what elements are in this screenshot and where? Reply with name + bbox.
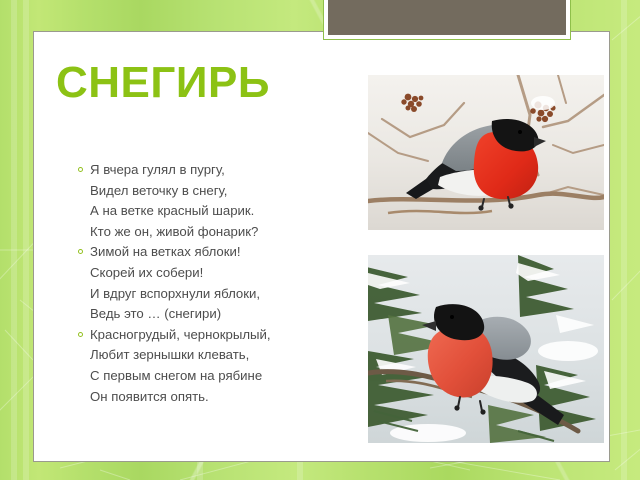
list-item: Видел веточку в снегу, [78, 181, 368, 202]
poem-line-text: Кто же он, живой фонарик? [90, 224, 258, 239]
poem-line-text: Зимой на ветках яблоки! [90, 244, 241, 259]
top-image-placeholder [324, 0, 570, 39]
list-item: С первым снегом на рябине [78, 366, 368, 387]
list-item: Он появится опять. [78, 387, 368, 408]
list-item: Красногрудый, чернокрылый, [78, 325, 368, 346]
list-item: Любит зернышки клевать, [78, 345, 368, 366]
bullfinch-photo-spruce-branch [368, 255, 604, 443]
presentation-slide: СНЕГИРЬ Я вчера гулял в пургу, Видел вет… [0, 0, 640, 480]
list-item: Кто же он, живой фонарик? [78, 222, 368, 243]
bullfinch-photo-snowy-branch [368, 75, 604, 230]
poem-line-text: Любит зернышки клевать, [90, 347, 249, 362]
list-item: Ведь это … (снегири) [78, 304, 368, 325]
list-item: Скорей их собери! [78, 263, 368, 284]
list-item: А на ветке красный шарик. [78, 201, 368, 222]
poem-line-text: С первым снегом на рябине [90, 368, 262, 383]
list-item: Зимой на ветках яблоки! [78, 242, 368, 263]
poem-line-text: Скорей их собери! [90, 265, 203, 280]
poem-line-text: Видел веточку в снегу, [90, 183, 227, 198]
poem-line-text: А на ветке красный шарик. [90, 203, 254, 218]
poem-text-block: Я вчера гулял в пургу, Видел веточку в с… [78, 160, 368, 407]
bullet-circle-icon [78, 167, 83, 172]
poem-line-text: И вдруг вспорхнули яблоки, [90, 286, 260, 301]
bullet-circle-icon [78, 249, 83, 254]
poem-line-text: Я вчера гулял в пургу, [90, 162, 225, 177]
list-item: Я вчера гулял в пургу, [78, 160, 368, 181]
poem-line-text: Красногрудый, чернокрылый, [90, 327, 271, 342]
list-item: И вдруг вспорхнули яблоки, [78, 284, 368, 305]
poem-line-text: Он появится опять. [90, 389, 209, 404]
bullet-circle-icon [78, 332, 83, 337]
poem-line-text: Ведь это … (снегири) [90, 306, 221, 321]
